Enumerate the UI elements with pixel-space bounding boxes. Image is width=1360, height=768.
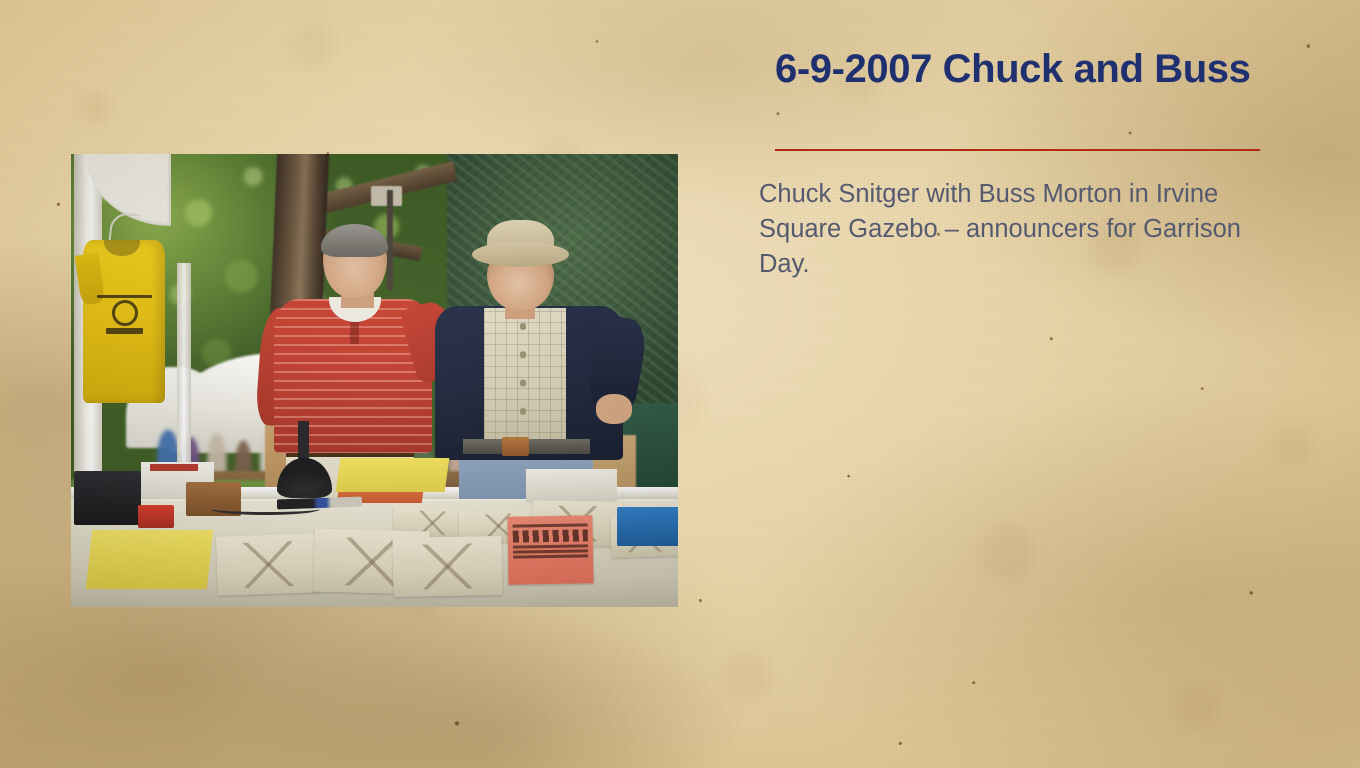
title-block: 6-9-2007 Chuck and Buss (775, 48, 1265, 91)
tshirt-print-top-line (97, 295, 152, 298)
flyer-line (513, 555, 588, 559)
man-hat-belt-buckle (502, 437, 529, 456)
yellow-pad-front (86, 530, 214, 589)
white-box-label (150, 464, 199, 471)
flyer-line (513, 550, 588, 554)
yellow-pad-rear (336, 458, 450, 492)
lamp-pole (387, 190, 393, 290)
red-tape-measure (138, 505, 174, 528)
body-text: Chuck Snitger with Buss Morton in Irvine… (759, 177, 1259, 282)
body-block: Chuck Snitger with Buss Morton in Irvine… (759, 177, 1259, 282)
document-sheet (216, 533, 321, 595)
document-fold-marks (403, 543, 491, 589)
title-underline-rule (775, 149, 1260, 151)
flyer-line (513, 545, 588, 549)
white-paper-stack (526, 469, 617, 503)
flyer-line (513, 524, 588, 528)
flyer-image-block (513, 530, 588, 543)
tshirt-print-word (106, 328, 143, 334)
blue-storage-box (617, 507, 678, 546)
bucket-hat-brim (472, 242, 569, 267)
man-hat-hand-on-hip (596, 394, 632, 423)
plaid-shirt-buttons (520, 317, 526, 435)
tshirt-print-graphic (93, 281, 157, 349)
tshirt-print-emblem-icon (112, 300, 138, 326)
slide-photo[interactable] (71, 154, 678, 607)
document-sheet (392, 536, 502, 597)
black-equipment-case (74, 471, 141, 525)
document-fold-marks (226, 540, 310, 588)
page-title: 6-9-2007 Chuck and Buss (775, 48, 1265, 91)
slide-canvas: 6-9-2007 Chuck and Buss Chuck Snitger wi… (0, 0, 1360, 768)
orange-flyer (507, 516, 593, 585)
